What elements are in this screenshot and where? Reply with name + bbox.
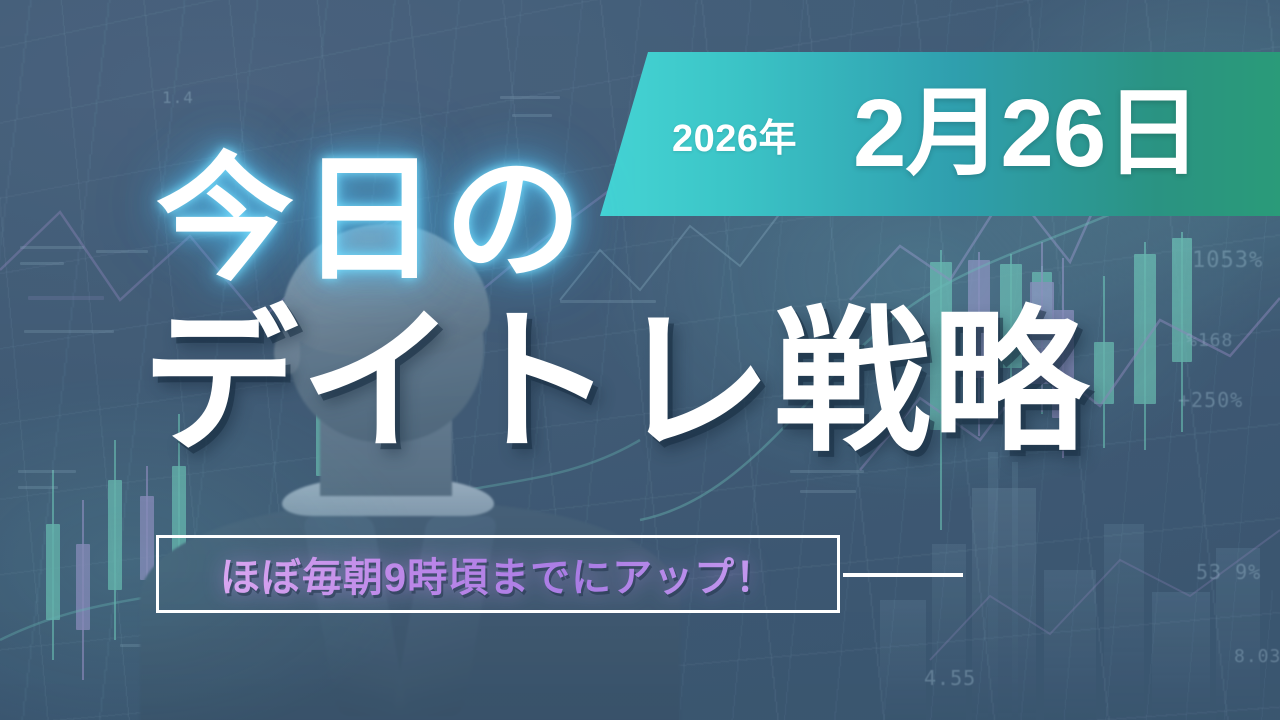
subtitle-accent-rule — [843, 573, 963, 577]
subtitle-text: ほぼ毎朝9時頃までにアップ！ — [220, 545, 776, 603]
headline: 今日の デイトレ戦略 — [156, 150, 1216, 461]
headline-line-1: 今日の — [156, 150, 1216, 291]
headline-line-2: デイトレ戦略 — [142, 305, 1216, 461]
thumbnail-canvas: 1053% %168 +250% 53 9% 8.03 4.55 31.00 1… — [0, 0, 1280, 720]
subtitle-box: ほぼ毎朝9時頃までにアップ！ — [156, 535, 840, 613]
